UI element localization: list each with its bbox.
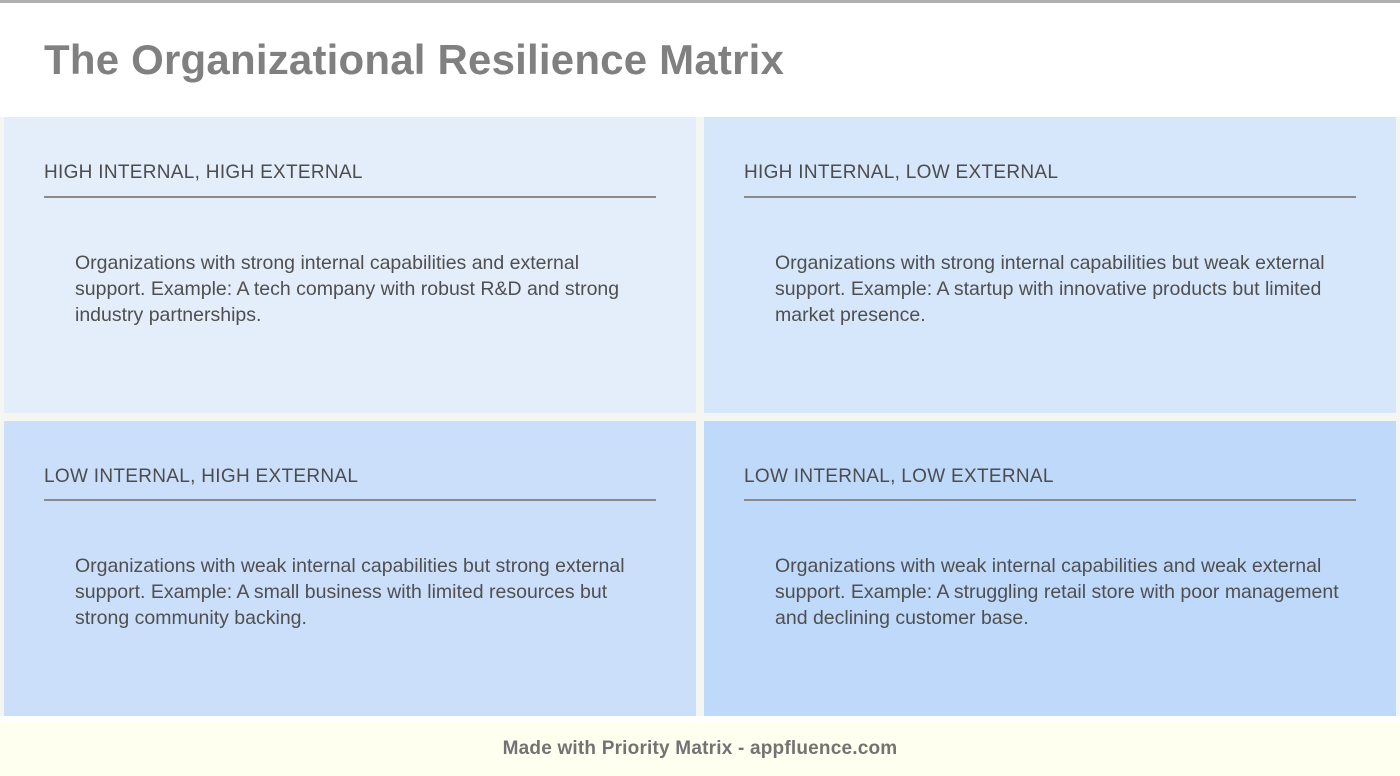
quadrant-body: Organizations with weak internal capabil… (744, 553, 1355, 631)
quadrant-header: LOW INTERNAL, LOW EXTERNAL (744, 467, 1356, 502)
quadrant-low-internal-high-external[interactable]: LOW INTERNAL, HIGH EXTERNAL Organization… (4, 421, 696, 717)
footer-bar: Made with Priority Matrix - appfluence.c… (0, 722, 1400, 776)
quadrant-high-internal-high-external[interactable]: HIGH INTERNAL, HIGH EXTERNAL Organizatio… (4, 117, 696, 413)
page-title: The Organizational Resilience Matrix (44, 37, 784, 83)
quadrant-high-internal-low-external[interactable]: HIGH INTERNAL, LOW EXTERNAL Organization… (704, 117, 1396, 413)
quadrant-low-internal-low-external[interactable]: LOW INTERNAL, LOW EXTERNAL Organizations… (704, 421, 1396, 717)
matrix-page: The Organizational Resilience Matrix HIG… (0, 0, 1400, 776)
quadrant-grid: HIGH INTERNAL, HIGH EXTERNAL Organizatio… (0, 117, 1400, 716)
quadrant-body: Organizations with strong internal capab… (44, 250, 635, 328)
quadrant-header: HIGH INTERNAL, HIGH EXTERNAL (44, 163, 656, 198)
quadrant-body: Organizations with strong internal capab… (744, 250, 1335, 328)
quadrant-body: Organizations with weak internal capabil… (44, 553, 655, 631)
quadrant-header: LOW INTERNAL, HIGH EXTERNAL (44, 467, 656, 502)
quadrant-header: HIGH INTERNAL, LOW EXTERNAL (744, 163, 1356, 198)
footer-attribution[interactable]: Made with Priority Matrix - appfluence.c… (503, 738, 898, 760)
title-bar: The Organizational Resilience Matrix (0, 3, 1400, 117)
